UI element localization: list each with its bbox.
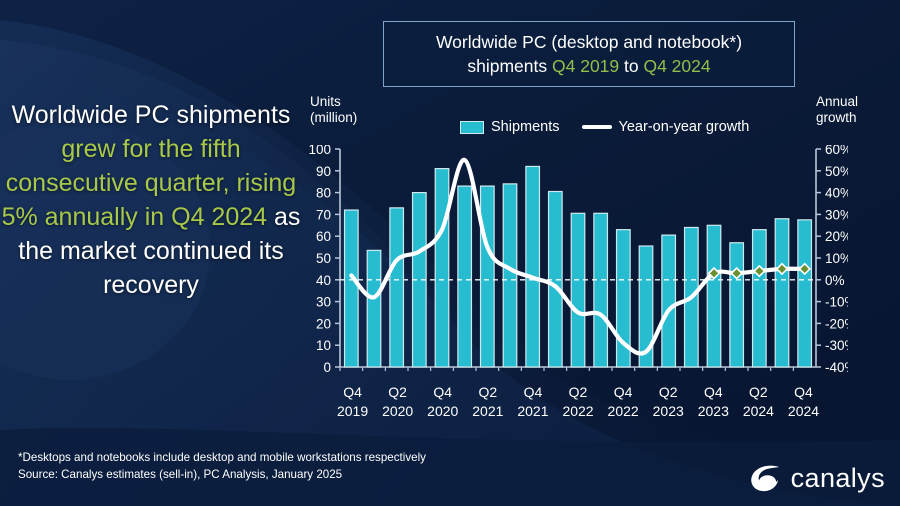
x-tick-quarter: Q2	[646, 383, 691, 402]
left-tick-label-5: 50	[316, 251, 331, 266]
legend-item-growth[interactable]: Year-on-year growth	[582, 119, 750, 135]
legend-label-growth: Year-on-year growth	[619, 119, 750, 135]
x-tick-5: Q22022	[555, 383, 600, 421]
legend-item-shipments[interactable]: Shipments	[460, 119, 560, 135]
right-tick-label-7: 30%	[825, 207, 848, 222]
x-tick-year: 2020	[375, 402, 420, 421]
right-tick-label-3: -10%	[825, 295, 848, 310]
footnote-line1: *Desktops and notebooks include desktop …	[18, 449, 426, 466]
chart-legend: Shipments Year-on-year growth	[460, 119, 749, 135]
bar-q4-2020[interactable]	[435, 169, 449, 367]
right-tick-label-5: 10%	[825, 251, 848, 266]
canalys-logo-text: canalys	[791, 463, 885, 494]
footnote: *Desktops and notebooks include desktop …	[18, 449, 426, 483]
bar-q4-2019[interactable]	[345, 210, 359, 367]
legend-line-swatch-icon	[582, 125, 612, 129]
left-tick-label-0: 0	[323, 360, 331, 375]
left-axis-caption-line2: (million)	[310, 110, 357, 126]
title-range-start: Q4 2019	[552, 56, 619, 76]
bar-q1-2024[interactable]	[730, 243, 744, 367]
x-tick-year: 2022	[555, 402, 600, 421]
chart-title-box: Worldwide PC (desktop and notebook*) shi…	[383, 21, 795, 87]
bar-q3-2022[interactable]	[594, 213, 608, 367]
right-tick-label-10: 60%	[825, 145, 848, 157]
bar-q4-2024[interactable]	[798, 220, 812, 367]
left-tick-label-7: 70	[316, 207, 331, 222]
x-tick-quarter: Q4	[420, 383, 465, 402]
title-line2-mid: to	[619, 56, 643, 76]
left-tick-label-6: 60	[316, 229, 331, 244]
chart-plot-area: 0102030405060708090100-40%-30%-20%-10%0%…	[308, 145, 848, 385]
bar-q2-2022[interactable]	[571, 213, 585, 367]
x-tick-quarter: Q2	[375, 383, 420, 402]
bar-q1-2020[interactable]	[367, 250, 381, 367]
footnote-line2: Source: Canalys estimates (sell-in), PC …	[18, 466, 426, 483]
left-axis-caption-line1: Units	[310, 94, 357, 110]
x-tick-quarter: Q4	[330, 383, 375, 402]
title-line2-pre: shipments	[467, 56, 552, 76]
left-tick-label-1: 10	[316, 338, 331, 353]
x-tick-year: 2021	[465, 402, 510, 421]
x-tick-3: Q22021	[465, 383, 510, 421]
x-tick-7: Q22023	[646, 383, 691, 421]
left-tick-label-8: 80	[316, 186, 331, 201]
title-range-end: Q4 2024	[643, 56, 710, 76]
left-tick-label-4: 40	[316, 273, 331, 288]
x-tick-year: 2021	[510, 402, 555, 421]
left-tick-label-10: 100	[308, 145, 331, 157]
right-axis-caption-line1: Annual	[816, 94, 858, 110]
x-tick-10: Q42024	[781, 383, 826, 421]
headline-text: Worldwide PC shipments grew for the fift…	[0, 98, 302, 302]
right-tick-label-9: 50%	[825, 164, 848, 179]
left-tick-label-3: 30	[316, 295, 331, 310]
x-axis-labels: Q42019Q22020Q42020Q22021Q42021Q22022Q420…	[330, 383, 826, 421]
x-tick-6: Q42022	[601, 383, 646, 421]
right-tick-label-1: -30%	[825, 338, 848, 353]
x-tick-year: 2023	[646, 402, 691, 421]
left-tick-label-9: 90	[316, 164, 331, 179]
x-tick-quarter: Q4	[510, 383, 555, 402]
legend-bar-swatch-icon	[460, 121, 484, 134]
x-tick-year: 2024	[736, 402, 781, 421]
left-tick-label-2: 20	[316, 316, 331, 331]
x-tick-year: 2022	[601, 402, 646, 421]
x-tick-quarter: Q4	[781, 383, 826, 402]
x-tick-quarter: Q2	[555, 383, 600, 402]
right-tick-label-0: -40%	[825, 360, 848, 375]
x-tick-quarter: Q2	[465, 383, 510, 402]
bar-q2-2021[interactable]	[481, 186, 495, 367]
x-tick-quarter: Q4	[601, 383, 646, 402]
legend-label-shipments: Shipments	[491, 119, 560, 135]
canalys-mark-icon	[748, 463, 782, 493]
x-tick-quarter: Q4	[691, 383, 736, 402]
right-tick-label-2: -20%	[825, 316, 848, 331]
right-tick-label-8: 40%	[825, 186, 848, 201]
x-tick-1: Q22020	[375, 383, 420, 421]
title-line1: Worldwide PC (desktop and notebook*)	[436, 32, 742, 52]
headline-highlight: grew for the fifth consecutive quarter, …	[2, 135, 297, 231]
bar-q2-2020[interactable]	[390, 208, 404, 367]
bar-q2-2024[interactable]	[753, 230, 767, 367]
chart-title: Worldwide PC (desktop and notebook*) shi…	[426, 30, 752, 78]
x-tick-2: Q42020	[420, 383, 465, 421]
bar-q1-2021[interactable]	[458, 186, 472, 367]
x-tick-year: 2023	[691, 402, 736, 421]
x-tick-year: 2024	[781, 402, 826, 421]
bar-q2-2023[interactable]	[662, 235, 676, 367]
x-tick-quarter: Q2	[736, 383, 781, 402]
bar-q4-2023[interactable]	[707, 225, 721, 367]
left-axis-caption: Units (million)	[310, 94, 357, 126]
right-tick-label-6: 20%	[825, 229, 848, 244]
x-tick-4: Q42021	[510, 383, 555, 421]
x-tick-year: 2019	[330, 402, 375, 421]
x-tick-9: Q22024	[736, 383, 781, 421]
bar-q4-2021[interactable]	[526, 166, 540, 367]
chart-svg: 0102030405060708090100-40%-30%-20%-10%0%…	[308, 145, 848, 385]
right-axis-caption-line2: growth	[816, 110, 858, 126]
bar-q3-2021[interactable]	[503, 184, 517, 367]
bar-q3-2024[interactable]	[775, 219, 789, 367]
headline-part1: Worldwide PC shipments	[12, 101, 291, 129]
right-axis-caption: Annual growth	[816, 94, 858, 126]
canalys-logo: canalys	[575, 458, 885, 498]
x-tick-year: 2020	[420, 402, 465, 421]
right-tick-label-4: 0%	[825, 273, 845, 288]
x-tick-0: Q42019	[330, 383, 375, 421]
x-tick-8: Q42023	[691, 383, 736, 421]
